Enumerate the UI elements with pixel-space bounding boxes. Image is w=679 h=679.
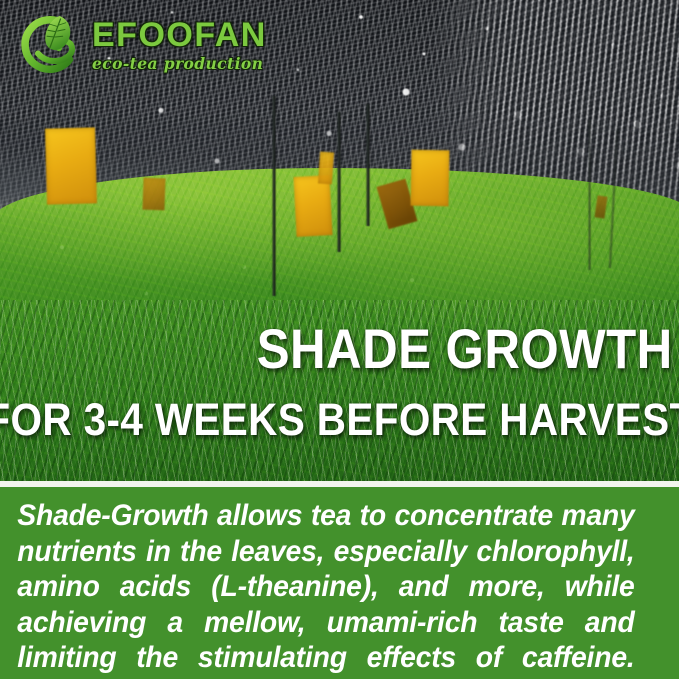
brand-name: EFOOFAN [92,18,267,52]
support-pole [366,104,370,226]
yellow-sticky-trap [45,127,97,204]
description-text: Shade-Growth allows tea to concentrate m… [0,487,652,676]
logo-wordmark: EFOOFAN eco-tea production [92,18,267,74]
shade-growth-poster: EFOOFAN eco-tea production SHADE GROWTH … [0,0,679,679]
panel-separator [0,481,679,487]
headline-primary: SHADE GROWTH [257,322,673,376]
leaf-circle-icon [12,10,88,82]
description-line: amino acids (L-theanine), and more, whil… [17,569,634,605]
support-pole [588,120,591,270]
tea-field-photo: EFOOFAN eco-tea production SHADE GROWTH … [0,0,679,483]
headline-secondary: FOR 3-4 WEEKS BEFORE HARVEST [0,398,679,441]
yellow-sticky-trap [411,150,450,207]
description-panel: Shade-Growth allows tea to concentrate m… [0,487,679,679]
yellow-sticky-trap [142,178,165,211]
description-line: limiting the stimulating effects of caff… [17,640,634,676]
yellow-sticky-trap [293,175,332,237]
description-line: nutrients in the leaves, especially chlo… [17,534,634,570]
description-line: Shade-Growth allows tea to concentrate m… [17,498,634,534]
brand-logo[interactable]: EFOOFAN eco-tea production [12,10,267,82]
yellow-sticky-trap [318,152,334,185]
support-pole [337,112,341,252]
description-line: achieving a mellow, umami-rich taste and [17,605,634,641]
support-pole [272,96,276,296]
brand-tagline: eco-tea production [92,56,267,72]
